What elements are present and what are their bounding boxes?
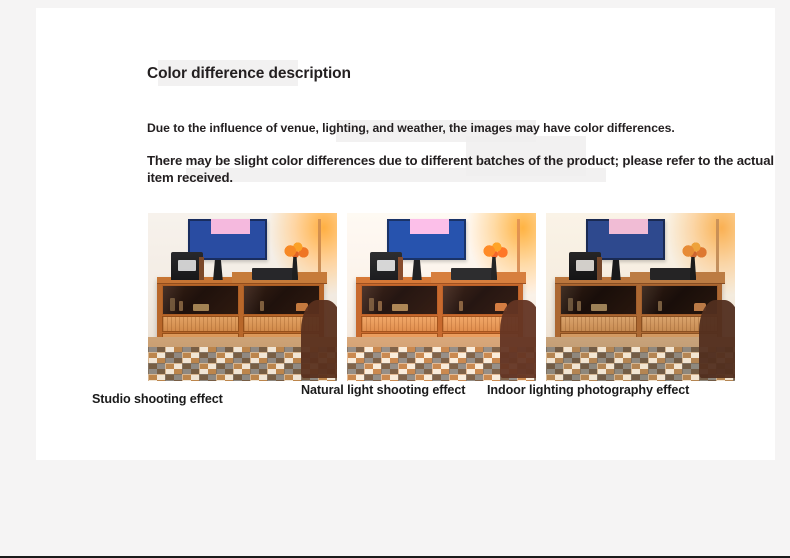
bottle [199, 257, 204, 281]
bottle [398, 257, 403, 281]
room-scene-image [546, 213, 735, 381]
espresso-machine [569, 252, 601, 281]
side-table [500, 300, 536, 377]
shelf-item [378, 301, 382, 311]
drawer [560, 316, 637, 332]
shelf-item [392, 304, 409, 311]
intro-paragraph: Due to the influence of venue, lighting,… [147, 120, 707, 136]
espresso-machine [370, 252, 402, 281]
drawer-row [560, 316, 718, 332]
photo-caption-studio: Studio shooting effect [92, 391, 282, 407]
drawer [162, 316, 239, 332]
shelf-item [193, 304, 210, 311]
notice-paragraph: There may be slight color differences du… [147, 152, 790, 187]
glass-door-row [162, 285, 320, 315]
side-table [301, 300, 337, 377]
product-photo-indoor-lighting[interactable] [546, 213, 735, 381]
drawer [361, 316, 438, 332]
product-photo-natural-light[interactable] [347, 213, 536, 381]
espresso-machine [171, 252, 203, 281]
photo-caption-indoor-lighting: Indoor lighting photography effect [487, 382, 702, 398]
record-player [252, 268, 294, 280]
glass-door [162, 285, 239, 315]
side-table [699, 300, 735, 377]
glass-door-row [361, 285, 519, 315]
shelf-item [658, 301, 662, 311]
glass-door-row [560, 285, 718, 315]
drawer-row [162, 316, 320, 332]
poster-color-band [410, 219, 449, 235]
shelf-item [568, 298, 573, 311]
record-player [451, 268, 493, 280]
poster-color-band [211, 219, 250, 235]
glass-door [361, 285, 438, 315]
section-heading: Color difference description [147, 64, 447, 85]
room-scene-image [148, 213, 337, 381]
shelf-item [260, 301, 264, 311]
record-player [650, 268, 692, 280]
shelf-item [577, 301, 581, 311]
glass-door [560, 285, 637, 315]
photo-captions: Studio shooting effect Natural light sho… [36, 382, 775, 428]
drawer-row [361, 316, 519, 332]
shelf-item [179, 301, 183, 311]
photo-gallery [148, 213, 736, 381]
content-card: Color difference description Due to the … [36, 8, 775, 460]
shelf-item [591, 304, 608, 311]
product-photo-studio[interactable] [148, 213, 337, 381]
room-scene-image [347, 213, 536, 381]
poster-color-band [609, 219, 648, 235]
shelf-item [170, 298, 175, 311]
bottle [597, 257, 602, 281]
shelf-item [369, 298, 374, 311]
shelf-item [459, 301, 463, 311]
photo-caption-natural-light: Natural light shooting effect [301, 382, 466, 398]
